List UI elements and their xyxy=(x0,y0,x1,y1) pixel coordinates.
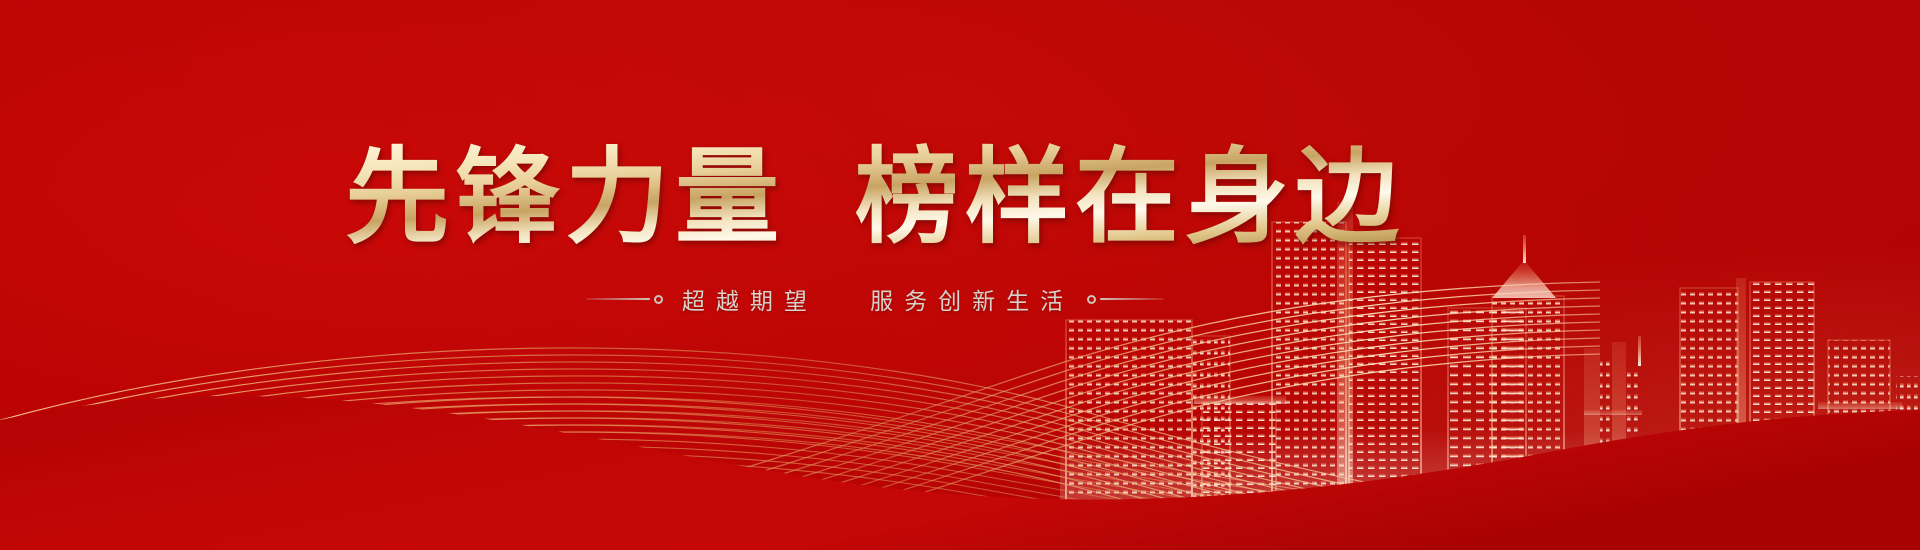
page-subtitle: 超越期望 服务创新生活 xyxy=(676,282,1074,316)
deco-line-left xyxy=(586,295,663,304)
deco-bar-right-icon xyxy=(1100,298,1164,300)
page-title: 先锋力量 榜样在身边 xyxy=(345,140,1405,256)
headline-block: 先锋力量 榜样在身边 超越期望 服务创新生活 xyxy=(0,140,1920,316)
deco-line-right xyxy=(1087,295,1164,304)
deco-dot-left-icon xyxy=(654,295,663,304)
subtitle-row: 超越期望 服务创新生活 xyxy=(345,282,1405,316)
banner-stage: 先锋力量 榜样在身边 超越期望 服务创新生活 xyxy=(0,0,1920,550)
deco-bar-left-icon xyxy=(586,298,650,300)
deco-dot-right-icon xyxy=(1087,295,1096,304)
